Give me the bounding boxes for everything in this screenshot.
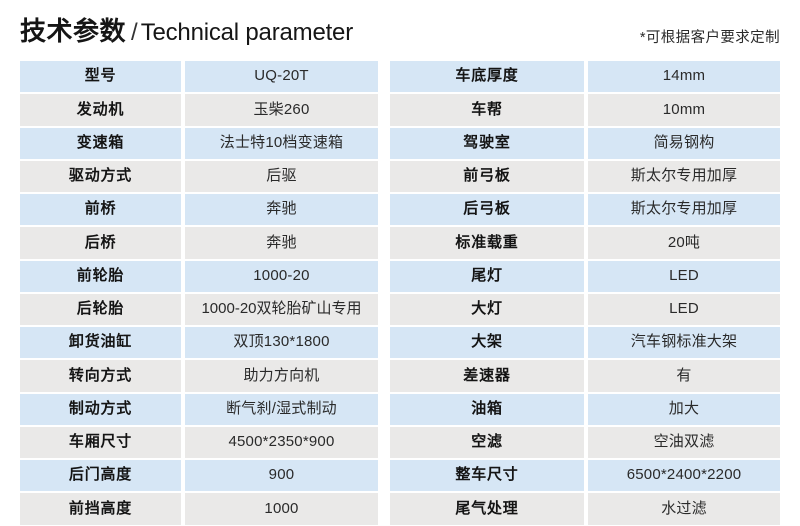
spec-label: 驱动方式 [20,161,185,194]
table-row: 驾驶室 简易钢构 [390,128,780,161]
spec-value: 后驱 [185,161,378,194]
spec-label: 制动方式 [20,394,185,427]
table-row: 前弓板 斯太尔专用加厚 [390,161,780,194]
spec-label: 型号 [20,61,185,94]
table-row: 尾气处理 水过滤 [390,493,780,524]
spec-label: 变速箱 [20,128,185,161]
spec-tables-container: 型号 UQ-20T 发动机 玉柴260 变速箱 法士特10档变速箱 驱动方式 后… [0,61,800,501]
spec-label: 前轮胎 [20,261,185,294]
spec-label: 后门高度 [20,460,185,493]
table-row: 标准载重 20吨 [390,227,780,260]
spec-value: UQ-20T [185,61,378,94]
spec-label: 尾气处理 [390,493,588,524]
spec-value: 20吨 [588,227,780,260]
table-row: 卸货油缸 双顶130*1800 [20,327,378,360]
table-row: 后弓板 斯太尔专用加厚 [390,194,780,227]
spec-label: 转向方式 [20,360,185,393]
spec-value: 6500*2400*2200 [588,460,780,493]
table-row: 整车尺寸 6500*2400*2200 [390,460,780,493]
table-row: 发动机 玉柴260 [20,94,378,127]
page-title-en: Technical parameter [141,19,353,46]
spec-label: 后桥 [20,227,185,260]
spec-value: 水过滤 [588,493,780,524]
spec-label: 整车尺寸 [390,460,588,493]
spec-label: 车帮 [390,94,588,127]
spec-label: 前桥 [20,194,185,227]
table-row: 后桥 奔驰 [20,227,378,260]
spec-label: 发动机 [20,94,185,127]
table-row: 差速器 有 [390,360,780,393]
table-row: 大灯 LED [390,294,780,327]
spec-label: 油箱 [390,394,588,427]
spec-value: 1000-20 [185,261,378,294]
spec-value: 900 [185,460,378,493]
spec-value: 有 [588,360,780,393]
spec-value: 14mm [588,61,780,94]
spec-label: 前挡高度 [20,493,185,524]
spec-value: 空油双滤 [588,427,780,460]
spec-table-left: 型号 UQ-20T 发动机 玉柴260 变速箱 法士特10档变速箱 驱动方式 后… [20,61,378,525]
table-row: 后轮胎 1000-20双轮胎矿山专用 [20,294,378,327]
spec-value: LED [588,294,780,327]
spec-label: 差速器 [390,360,588,393]
table-row: 大架 汽车钢标准大架 [390,327,780,360]
spec-value: 1000-20双轮胎矿山专用 [185,294,378,327]
spec-value: 奔驰 [185,194,378,227]
spec-value: 助力方向机 [185,360,378,393]
spec-value: 法士特10档变速箱 [185,128,378,161]
table-row: 前桥 奔驰 [20,194,378,227]
table-row: 尾灯 LED [390,261,780,294]
spec-sheet-page: 技术参数/Technical parameter *可根据客户要求定制 型号 U… [0,0,800,526]
spec-value: 双顶130*1800 [185,327,378,360]
spec-label: 车厢尺寸 [20,427,185,460]
spec-value: 10mm [588,94,780,127]
spec-value: 奔驰 [185,227,378,260]
spec-label: 后弓板 [390,194,588,227]
table-row: 变速箱 法士特10档变速箱 [20,128,378,161]
spec-value: 断气刹/湿式制动 [185,394,378,427]
spec-table-right-body: 车底厚度 14mm 车帮 10mm 驾驶室 简易钢构 前弓板 斯太尔专用加厚 后… [390,61,780,525]
spec-label: 标准载重 [390,227,588,260]
spec-label: 前弓板 [390,161,588,194]
table-row: 空滤 空油双滤 [390,427,780,460]
spec-label: 空滤 [390,427,588,460]
table-row: 车帮 10mm [390,94,780,127]
page-title-cn: 技术参数 [20,16,126,46]
page-title: 技术参数/Technical parameter [20,16,353,48]
spec-value: 汽车钢标准大架 [588,327,780,360]
table-row: 车厢尺寸 4500*2350*900 [20,427,378,460]
spec-label: 大灯 [390,294,588,327]
table-row: 前轮胎 1000-20 [20,261,378,294]
spec-label: 尾灯 [390,261,588,294]
table-row: 转向方式 助力方向机 [20,360,378,393]
page-title-separator: / [126,19,141,46]
table-row: 车底厚度 14mm [390,61,780,94]
spec-value: 加大 [588,394,780,427]
table-row: 制动方式 断气刹/湿式制动 [20,394,378,427]
spec-label: 车底厚度 [390,61,588,94]
spec-table-left-body: 型号 UQ-20T 发动机 玉柴260 变速箱 法士特10档变速箱 驱动方式 后… [20,61,378,525]
spec-value: 玉柴260 [185,94,378,127]
table-row: 驱动方式 后驱 [20,161,378,194]
spec-table-right: 车底厚度 14mm 车帮 10mm 驾驶室 简易钢构 前弓板 斯太尔专用加厚 后… [390,61,780,525]
spec-value: 斯太尔专用加厚 [588,194,780,227]
table-row: 后门高度 900 [20,460,378,493]
spec-value: 斯太尔专用加厚 [588,161,780,194]
table-row: 前挡高度 1000 [20,493,378,524]
spec-value: 1000 [185,493,378,524]
spec-label: 卸货油缸 [20,327,185,360]
page-header: 技术参数/Technical parameter *可根据客户要求定制 [0,0,800,61]
spec-label: 后轮胎 [20,294,185,327]
customization-note: *可根据客户要求定制 [640,26,780,47]
table-row: 油箱 加大 [390,394,780,427]
spec-value: 简易钢构 [588,128,780,161]
spec-value: 4500*2350*900 [185,427,378,460]
spec-label: 驾驶室 [390,128,588,161]
spec-label: 大架 [390,327,588,360]
spec-value: LED [588,261,780,294]
table-row: 型号 UQ-20T [20,61,378,94]
